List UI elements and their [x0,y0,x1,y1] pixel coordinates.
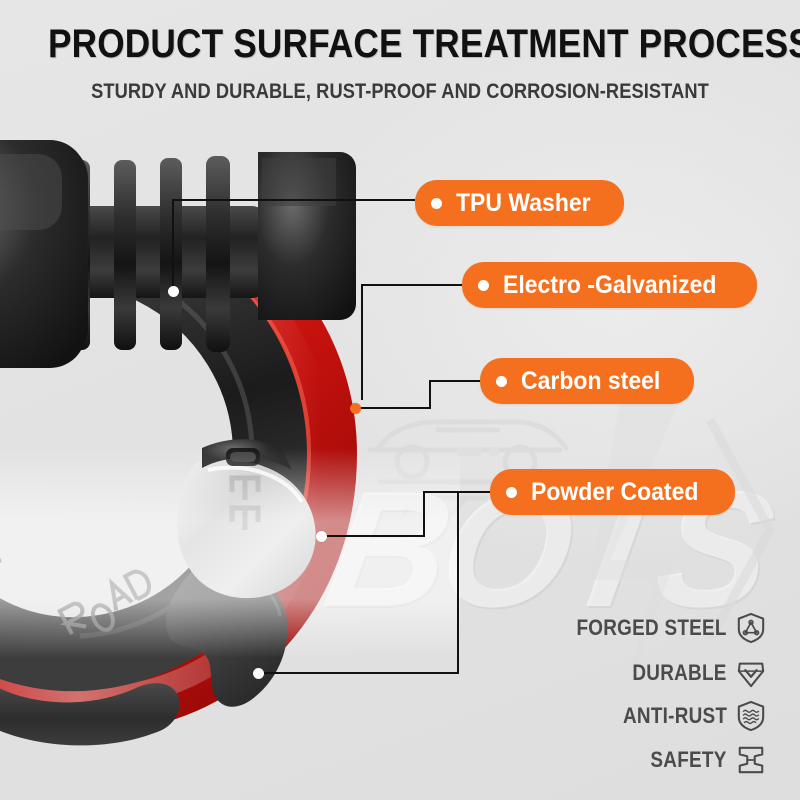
feature-row-durable: DURABLE [556,657,766,689]
shield-molecule-icon [736,612,766,644]
callout-label: Electro -Galvanized [503,273,716,298]
page-subtitle: STURDY AND DURABLE, RUST-PROOF AND CORRO… [52,80,748,104]
marker-powder-coated [316,531,327,542]
feature-row-forged-steel: FORGED STEEL [556,612,766,644]
callout-bullet-icon [496,376,507,387]
callout-bullet-icon [506,487,517,498]
callout-bullet-icon [431,198,442,209]
callout-powder-coated[interactable]: Powder Coated [490,469,735,515]
gem-chevron-icon [736,657,766,689]
page-title: PRODUCT SURFACE TREATMENT PROCESS [48,22,752,67]
callout-carbon-steel[interactable]: Carbon steel [480,358,694,404]
callout-label: Carbon steel [521,369,660,394]
infographic-canvas: BOTS [0,0,800,800]
feature-label: SAFETY [651,747,727,773]
feature-label: FORGED STEEL [577,615,727,641]
callout-tpu-washer[interactable]: TPU Washer [415,180,624,226]
feature-row-anti-rust: ANTI-RUST [556,700,766,732]
marker-tpu-pad [253,668,264,679]
marker-tpu-washer [168,286,179,297]
shield-waves-icon [736,700,766,732]
feature-label: ANTI-RUST [623,703,727,729]
feature-label: DURABLE [633,660,727,686]
marker-carbon-steel [350,403,361,414]
callout-label: Powder Coated [531,480,698,505]
callout-label: TPU Washer [456,191,591,216]
feature-row-safety: SAFETY [556,744,766,776]
product-image-d-ring-shackle [0,118,460,800]
callout-electro-galvanized[interactable]: Electro -Galvanized [462,262,757,308]
i-beam-icon [736,744,766,776]
callout-bullet-icon [478,280,489,291]
